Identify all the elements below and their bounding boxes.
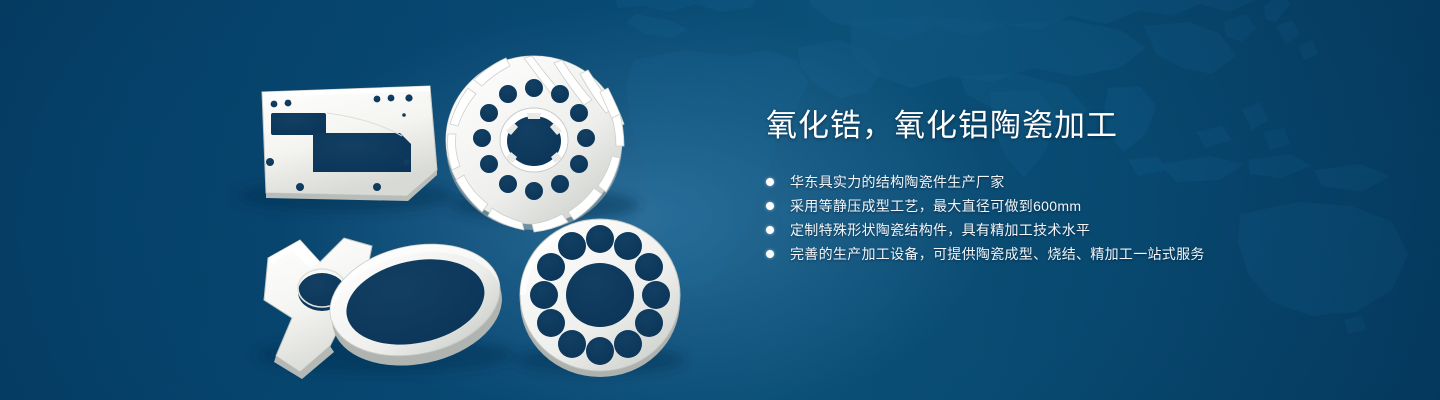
bullet-dot-icon <box>766 250 774 258</box>
ceramic-products-image <box>0 0 720 400</box>
bullet-dot-icon <box>766 226 774 234</box>
list-item-label: 采用等静压成型工艺，最大直径可做到600mm <box>790 198 1081 214</box>
part-ceramic-plate <box>262 86 437 201</box>
list-item-label: 定制特殊形状陶瓷结构件，具有精加工技术水平 <box>790 222 1090 238</box>
hero-banner: 氧化锆，氧化铝陶瓷加工 华东具实力的结构陶瓷件生产厂家 采用等静压成型工艺，最大… <box>0 0 1440 400</box>
feature-list: 华东具实力的结构陶瓷件生产厂家 采用等静压成型工艺，最大直径可做到600mm 定… <box>764 170 1404 266</box>
list-item: 华东具实力的结构陶瓷件生产厂家 <box>764 170 1404 194</box>
bullet-dot-icon <box>766 202 774 210</box>
bullet-dot-icon <box>766 178 774 186</box>
part-ceramic-perforated-disc <box>520 219 680 377</box>
list-item-label: 华东具实力的结构陶瓷件生产厂家 <box>790 174 1005 190</box>
banner-copy: 氧化锆，氧化铝陶瓷加工 华东具实力的结构陶瓷件生产厂家 采用等静压成型工艺，最大… <box>764 104 1404 266</box>
list-item: 完善的生产加工设备，可提供陶瓷成型、烧结、精加工一站式服务 <box>764 242 1404 266</box>
list-item: 定制特殊形状陶瓷结构件，具有精加工技术水平 <box>764 218 1404 242</box>
list-item-label: 完善的生产加工设备，可提供陶瓷成型、烧结、精加工一站式服务 <box>790 246 1205 262</box>
banner-headline: 氧化锆，氧化铝陶瓷加工 <box>766 104 1404 148</box>
list-item: 采用等静压成型工艺，最大直径可做到600mm <box>764 194 1404 218</box>
